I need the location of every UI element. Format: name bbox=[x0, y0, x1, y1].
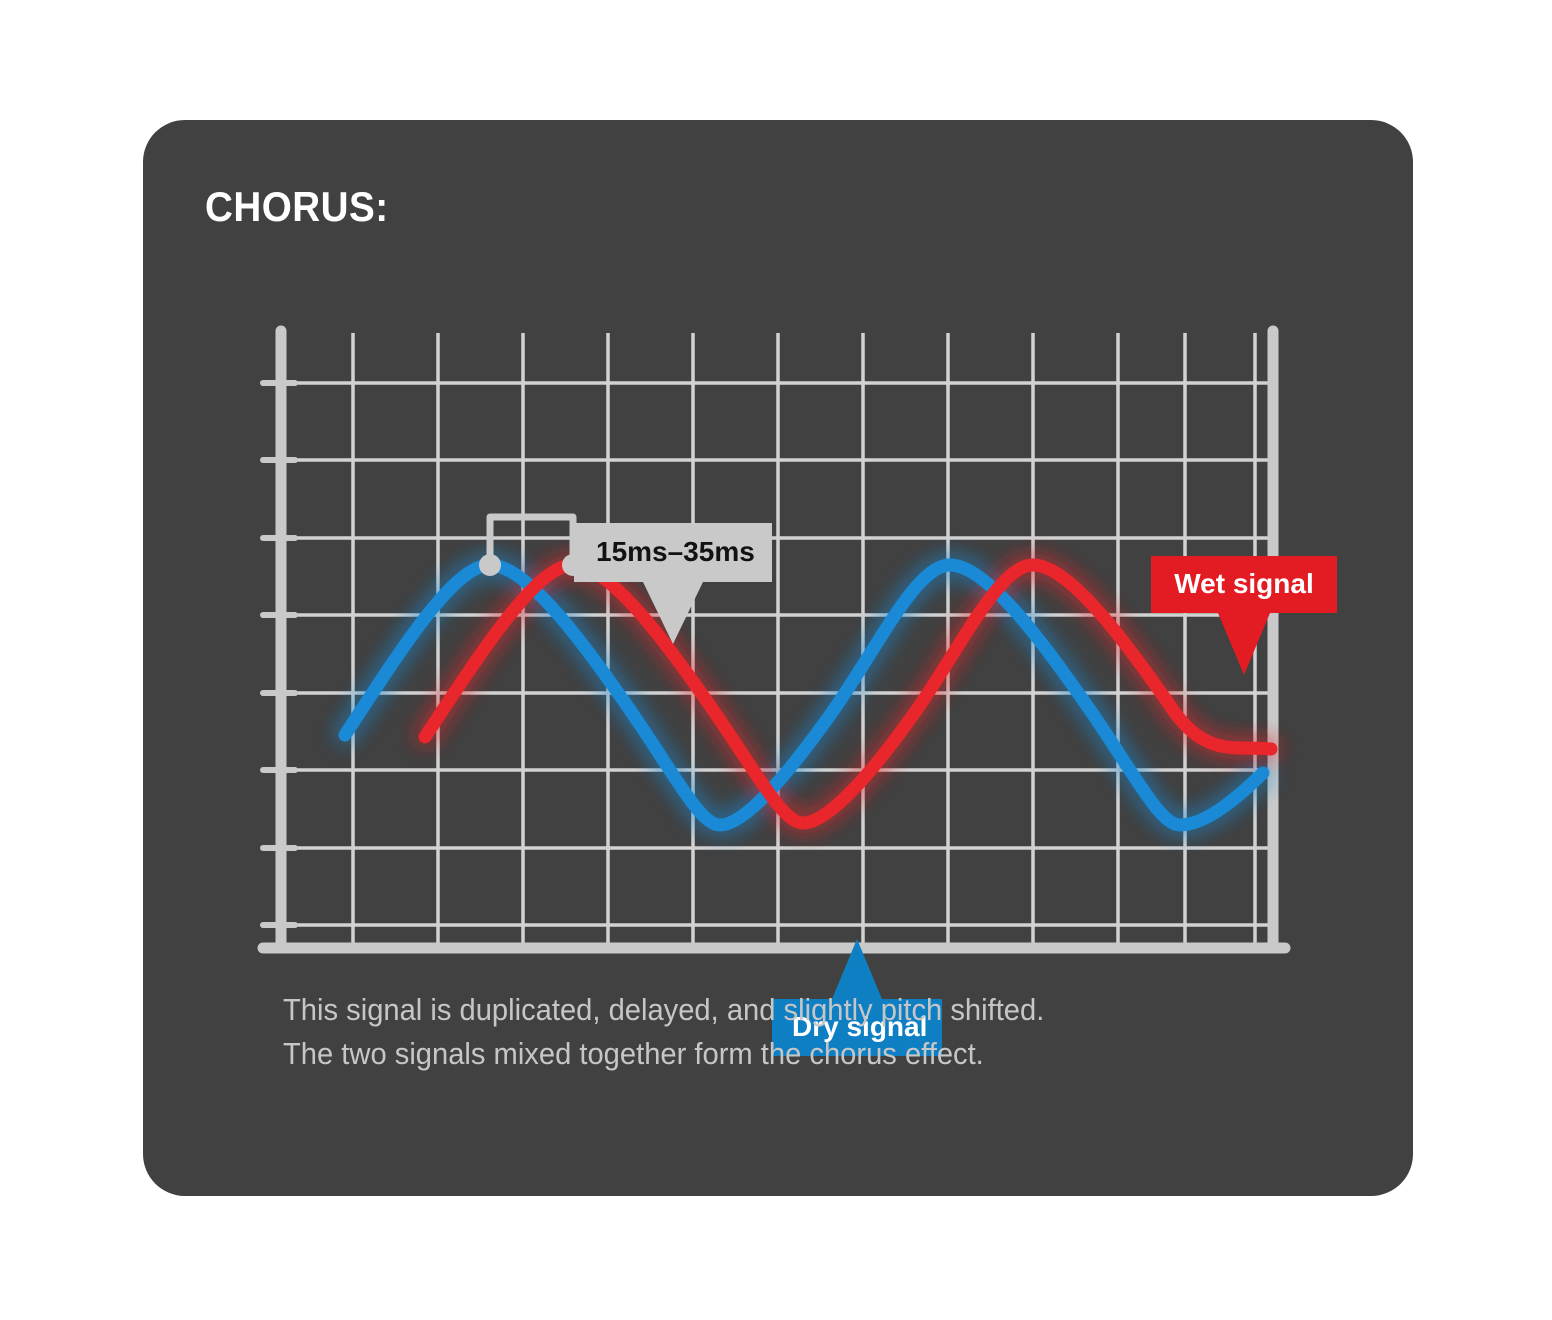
wet-signal-label: Wet signal bbox=[1151, 556, 1337, 613]
wet-signal-callout: Wet signal bbox=[1151, 556, 1337, 613]
caption: This signal is duplicated, delayed, and … bbox=[283, 988, 1044, 1076]
delay-bracket bbox=[490, 517, 573, 563]
chorus-card: CHORUS: bbox=[143, 120, 1413, 1196]
dry-signal-glow bbox=[345, 565, 1263, 825]
caption-line-2: The two signals mixed together form the … bbox=[283, 1032, 1044, 1076]
delay-callout: 15ms–35ms bbox=[574, 523, 772, 582]
signal-chart bbox=[255, 325, 1295, 965]
grid-horizontal bbox=[275, 383, 1273, 925]
dry-peak-marker bbox=[479, 554, 501, 576]
chart-canvas bbox=[255, 325, 1295, 965]
caption-line-1: This signal is duplicated, delayed, and … bbox=[283, 988, 1044, 1032]
page-title: CHORUS: bbox=[205, 183, 389, 231]
wet-callout-pointer-icon bbox=[1218, 613, 1270, 675]
delay-callout-pointer-icon bbox=[643, 582, 703, 644]
dry-signal-curve bbox=[345, 565, 1263, 825]
screenshot-root: CHORUS: bbox=[0, 0, 1552, 1320]
delay-callout-label: 15ms–35ms bbox=[574, 523, 772, 582]
